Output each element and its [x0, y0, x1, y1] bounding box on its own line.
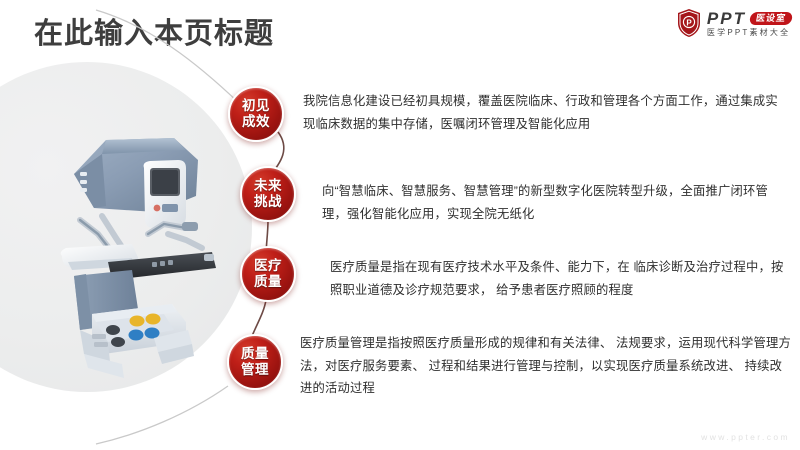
logo-tag-badge: 医设室	[749, 12, 793, 25]
badge-item-1-line2: 成效	[242, 114, 270, 130]
body-text-4: 医疗质量管理是指按照医疗质量形成的规律和有关法律、 法规要求，运用现代科学管理方…	[300, 332, 792, 400]
badge-item-2[interactable]: 未来 挑战	[240, 166, 296, 222]
badge-item-2-line1: 未来	[254, 178, 282, 194]
badge-item-4[interactable]: 质量 管理	[227, 334, 283, 390]
logo-text-block: PPT 医设室 医学PPT素材大全	[707, 10, 792, 37]
badge-item-3[interactable]: 医疗 质量	[240, 246, 296, 302]
badge-item-1-line1: 初见	[242, 98, 270, 114]
body-text-2: 向“智慧临床、智慧服务、智慧管理”的新型数字化医院转型升级，全面推广闭环管理，强…	[322, 180, 792, 225]
body-text-1: 我院信息化建设已经初具规模，覆盖医院临床、行政和管理各个方面工作，通过集成实现临…	[303, 90, 790, 135]
svg-text:P: P	[686, 19, 692, 28]
badge-item-4-line2: 管理	[241, 362, 269, 378]
badge-item-4-line1: 质量	[241, 346, 269, 362]
shield-icon: P	[676, 8, 702, 38]
body-text-3: 医疗质量是指在现有医疗技术水平及条件、能力下，在 临床诊断及治疗过程中，按照职业…	[330, 256, 792, 301]
page-title: 在此输入本页标题	[34, 18, 274, 51]
brand-logo[interactable]: P PPT 医设室 医学PPT素材大全	[676, 6, 792, 40]
logo-brand-text: PPT	[707, 10, 746, 27]
badge-item-3-line1: 医疗	[254, 258, 282, 274]
slide-canvas: 在此输入本页标题 P PPT 医设室 医学PPT素材大全	[0, 0, 800, 450]
logo-primary-row: PPT 医设室	[707, 10, 792, 27]
footer-watermark: www.ppter.com	[701, 432, 790, 442]
logo-subtitle: 医学PPT素材大全	[707, 29, 792, 37]
badge-item-3-line2: 质量	[254, 274, 282, 290]
badge-item-1[interactable]: 初见 成效	[228, 86, 284, 142]
surgical-robot-illustration	[36, 116, 236, 386]
badge-item-2-line2: 挑战	[254, 194, 282, 210]
